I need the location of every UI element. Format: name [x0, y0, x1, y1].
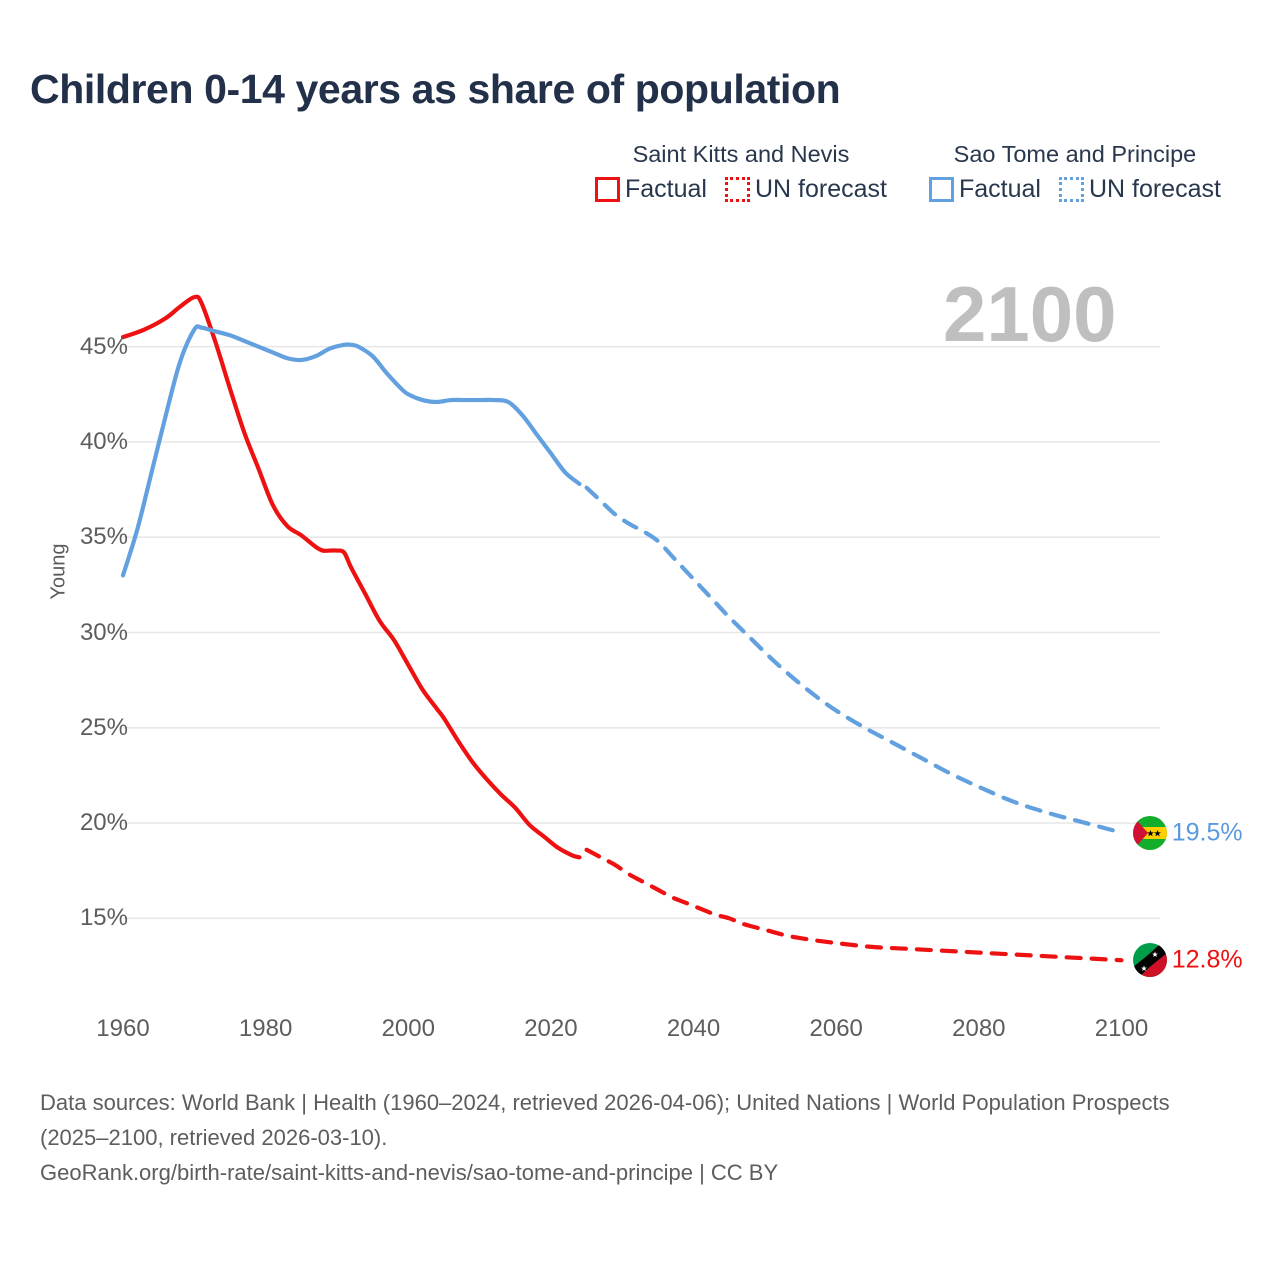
legend-item-label: Factual — [959, 175, 1041, 204]
flag-icon-sao-tome-and-principe — [1133, 816, 1167, 850]
footer-line-attribution: GeoRank.org/birth-rate/saint-kitts-and-n… — [40, 1155, 1220, 1190]
legend-group-saint-kitts-and-nevis: Saint Kitts and Nevis Factual UN forecas… — [595, 140, 887, 204]
y-tick-label: 45% — [80, 333, 128, 361]
series-line-saint-kitts-and-nevis-factual — [123, 297, 579, 858]
legend-item-label: UN forecast — [1089, 175, 1221, 204]
footer-line-sources: Data sources: World Bank | Health (1960–… — [40, 1085, 1220, 1155]
endpoint-value-saint-kitts-and-nevis: 12.8% — [1172, 946, 1243, 975]
series-line-saint-kitts-and-nevis-forecast — [587, 850, 1122, 961]
flag-icon-saint-kitts-and-nevis — [1133, 943, 1167, 977]
legend-item-forecast-red[interactable]: UN forecast — [725, 175, 887, 204]
y-tick-label: 35% — [80, 523, 128, 551]
y-tick-label: 30% — [80, 619, 128, 647]
legend-swatch-dotted-icon — [1059, 177, 1084, 202]
legend-country-label: Saint Kitts and Nevis — [633, 140, 850, 168]
legend-item-factual-red[interactable]: Factual — [595, 175, 707, 204]
year-watermark: 2100 — [943, 275, 1117, 353]
x-tick-label: 2000 — [382, 1015, 435, 1043]
footer-note: Data sources: World Bank | Health (1960–… — [40, 1085, 1220, 1191]
legend-item-label: UN forecast — [755, 175, 887, 204]
y-tick-label: 15% — [80, 904, 128, 932]
legend-swatch-solid-icon — [595, 177, 620, 202]
x-tick-label: 2040 — [667, 1015, 720, 1043]
x-tick-label: 1980 — [239, 1015, 292, 1043]
chart-legend: Saint Kitts and Nevis Factual UN forecas… — [595, 140, 1221, 204]
legend-group-sao-tome-and-principe: Sao Tome and Principe Factual UN forecas… — [929, 140, 1221, 204]
y-tick-label: 25% — [80, 714, 128, 742]
y-tick-label: 20% — [80, 809, 128, 837]
series-line-sao-tome-and-principe-forecast — [587, 488, 1122, 833]
legend-country-label: Sao Tome and Principe — [954, 140, 1197, 168]
legend-items: Factual UN forecast — [595, 175, 887, 204]
y-tick-label: 40% — [80, 428, 128, 456]
legend-item-forecast-blue[interactable]: UN forecast — [1059, 175, 1221, 204]
x-tick-label: 1960 — [96, 1015, 149, 1043]
legend-items: Factual UN forecast — [929, 175, 1221, 204]
series-line-sao-tome-and-principe-factual — [123, 326, 579, 575]
legend-item-label: Factual — [625, 175, 707, 204]
chart-root: Children 0-14 years as share of populati… — [0, 0, 1280, 1280]
legend-swatch-dotted-icon — [725, 177, 750, 202]
legend-swatch-solid-icon — [929, 177, 954, 202]
x-tick-label: 2060 — [809, 1015, 862, 1043]
endpoint-value-sao-tome-and-principe: 19.5% — [1172, 818, 1243, 847]
legend-item-factual-blue[interactable]: Factual — [929, 175, 1041, 204]
x-tick-label: 2080 — [952, 1015, 1005, 1043]
page-title: Children 0-14 years as share of populati… — [30, 66, 840, 113]
x-tick-label: 2020 — [524, 1015, 577, 1043]
x-tick-label: 2100 — [1095, 1015, 1148, 1043]
